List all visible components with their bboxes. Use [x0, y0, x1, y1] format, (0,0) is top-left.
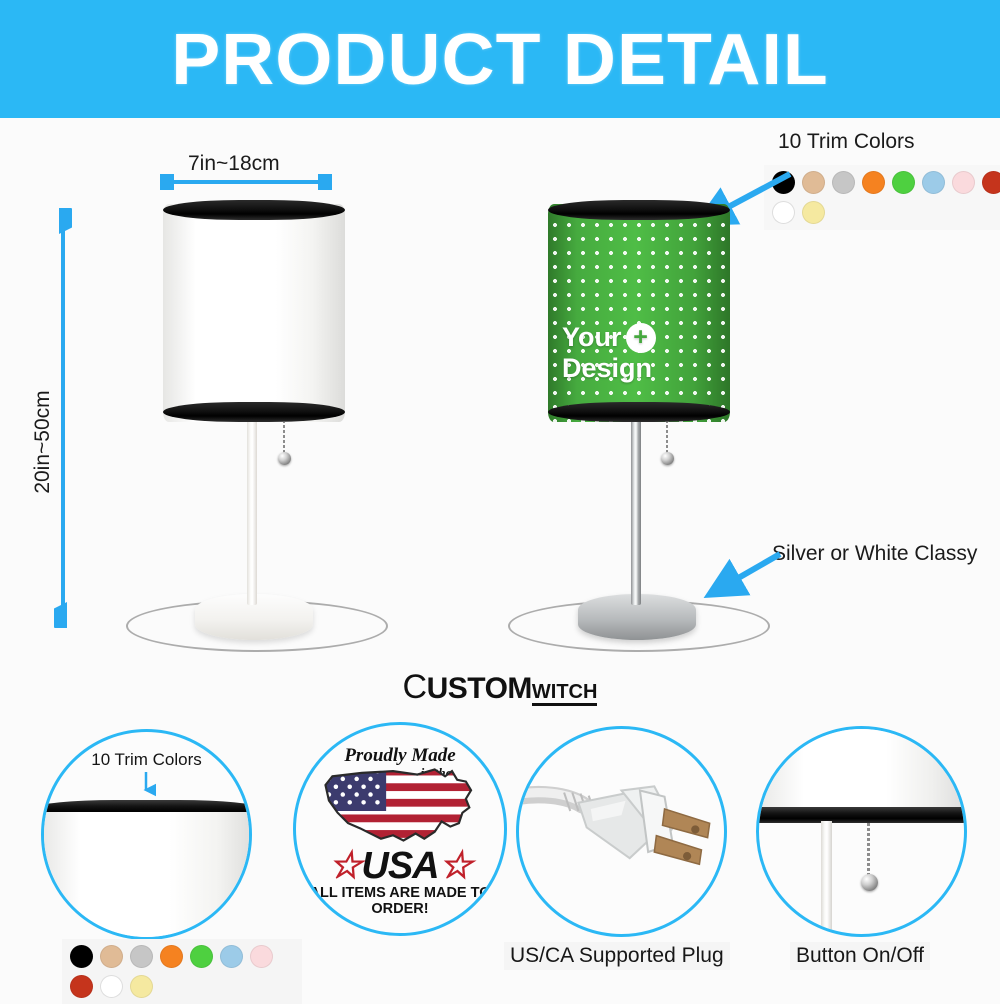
switch-panel-shade [759, 729, 964, 811]
trim-colors-panel-label: 10 Trim Colors [44, 750, 249, 770]
plus-icon: + [626, 323, 656, 353]
product-detail-page: PRODUCT DETAIL 10 Trim Colors 7in~18cm 2… [0, 0, 1000, 1000]
brand-logo-c: C [403, 668, 427, 706]
swatch-light-blue[interactable] [922, 171, 945, 194]
swatch-red[interactable] [982, 171, 1000, 194]
brand-logo-custom: USTOM [427, 672, 532, 705]
design-placeholder-text: Your + Design [562, 322, 722, 384]
trim-colors-callout-label: 10 Trim Colors [778, 130, 915, 154]
green-lamp-top-trim [548, 200, 730, 220]
height-dimension-arrow-icon [54, 208, 72, 628]
design-text-line1: Your [562, 322, 622, 353]
trim-colors-panel-arrow-icon [136, 770, 156, 798]
width-dimension-arrow-icon [160, 174, 332, 190]
pull-chain-ball-2[interactable] [661, 452, 674, 465]
green-lamp-bottom-trim [548, 402, 730, 422]
brand-logo-witch: WITCH [532, 681, 598, 706]
height-dimension-label: 20in~50cm [31, 362, 55, 522]
swatch-green-2[interactable] [190, 945, 213, 968]
star-right-icon: ☆ [439, 845, 472, 887]
swatch-gray-2[interactable] [130, 945, 153, 968]
swatch-green[interactable] [892, 171, 915, 194]
star-left-icon: ☆ [328, 845, 361, 887]
switch-panel-chain-ball[interactable] [861, 874, 878, 891]
power-plug-icon [519, 729, 724, 934]
white-lamp-shade [163, 204, 345, 422]
white-lamp-bottom-trim [163, 402, 345, 422]
plug-panel [516, 726, 727, 937]
width-dimension-label: 7in~18cm [188, 152, 280, 176]
swatch-orange[interactable] [862, 171, 885, 194]
design-text-line2: Design [562, 353, 722, 384]
header-banner: PRODUCT DETAIL [0, 0, 1000, 118]
usa-badge-sub-text: ALL ITEMS ARE MADE TO ORDER! [296, 885, 504, 917]
swatch-black-2[interactable] [70, 945, 93, 968]
swatch-white-2[interactable] [100, 975, 123, 998]
page-title: PRODUCT DETAIL [0, 22, 1000, 98]
base-callout-arrow-icon [700, 548, 790, 608]
white-lamp-top-trim [163, 200, 345, 220]
swatch-tan-2[interactable] [100, 945, 123, 968]
pull-chain-ball[interactable] [278, 452, 291, 465]
plug-panel-label: US/CA Supported Plug [504, 942, 730, 970]
swatch-orange-2[interactable] [160, 945, 183, 968]
swatch-gray[interactable] [832, 171, 855, 194]
base-finish-label: Silver or White Classy [772, 542, 977, 566]
white-lamp-pole [247, 415, 257, 605]
swatch-yellow[interactable] [802, 201, 825, 224]
green-lamp-shade: Your + Design [548, 204, 730, 422]
trim-colors-swatch-row-bottom [62, 939, 302, 1004]
swatch-pink[interactable] [952, 171, 975, 194]
trim-zoom-shade [41, 812, 252, 940]
swatch-red-2[interactable] [70, 975, 93, 998]
switch-panel-chain [867, 823, 870, 879]
green-lamp-pole [631, 415, 641, 605]
usa-badge-big-text: ☆USA☆ [296, 843, 504, 888]
swatch-pink-2[interactable] [250, 945, 273, 968]
swatch-light-blue-2[interactable] [220, 945, 243, 968]
switch-panel-trim [756, 807, 967, 823]
swatch-yellow-2[interactable] [130, 975, 153, 998]
switch-panel-pole [821, 821, 832, 936]
swatch-tan[interactable] [802, 171, 825, 194]
switch-panel [756, 726, 967, 937]
trim-colors-panel: 10 Trim Colors [41, 729, 252, 940]
usa-word: USA [361, 845, 438, 887]
switch-panel-label: Button On/Off [790, 942, 930, 970]
brand-logo: CUSTOMWITCH [0, 668, 1000, 707]
made-in-usa-panel: Proudly Made in the [293, 722, 507, 936]
